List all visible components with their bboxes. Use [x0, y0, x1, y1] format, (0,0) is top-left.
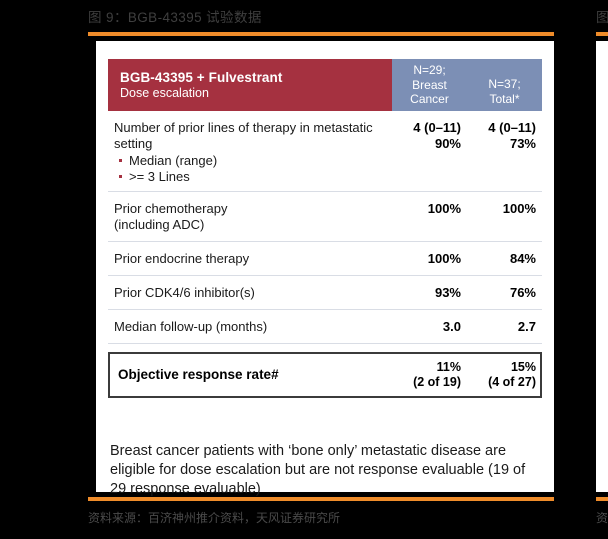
row-label-median-followup: Median follow-up (months) — [108, 310, 392, 343]
row-value-primary: 15% — [511, 360, 536, 374]
row-label-text: Prior chemotherapy — [114, 201, 384, 217]
row-label-prior-cdk46: Prior CDK4/6 inhibitor(s) — [108, 276, 392, 309]
col2-line2: Total* — [471, 92, 538, 107]
row-bullet-item: >= 3 Lines — [114, 169, 384, 185]
row-value-total: 76% — [467, 276, 542, 309]
adjacent-figure-sliver: 图 资 — [596, 0, 608, 539]
row-label-prior-endocrine: Prior endocrine therapy — [108, 242, 392, 275]
row-label-prior-chemotherapy: Prior chemotherapy (including ADC) — [108, 192, 392, 241]
row-value-primary: 4 (0–11) — [413, 120, 461, 135]
clinical-data-table: BGB-43395 + Fulvestrant Dose escalation … — [108, 59, 542, 398]
row-value-breast-cancer: 100% — [392, 192, 467, 225]
adjacent-figure-title: 图 — [596, 7, 608, 29]
col2-line1: N=37; — [471, 77, 538, 92]
figure-source: 资料来源：百济神州推介资料，天风证券研究所 — [88, 509, 340, 527]
figure-card: BGB-43395 + Fulvestrant Dose escalation … — [96, 41, 554, 492]
row-value-total: 4 (0–11) 73% — [467, 111, 542, 158]
row-value-secondary: 90% — [392, 136, 461, 152]
row-value-breast-cancer: 100% — [392, 242, 467, 275]
table-row: Prior chemotherapy (including ADC) 100% … — [108, 192, 542, 242]
col1-line2: Breast — [396, 78, 463, 93]
row-value-total: 84% — [467, 242, 542, 275]
adjacent-figure-bottom-rule — [596, 497, 608, 501]
adjacent-figure-card — [596, 41, 608, 492]
table-row: Number of prior lines of therapy in meta… — [108, 111, 542, 192]
table-header-col-total: N=37; Total* — [467, 59, 542, 111]
table-row: Prior CDK4/6 inhibitor(s) 93% 76% — [108, 276, 542, 310]
row-value-total: 100% — [467, 192, 542, 225]
adjacent-figure-source: 资 — [596, 509, 608, 527]
figure-bottom-rule — [88, 497, 554, 501]
row-value-primary: 11% — [437, 360, 461, 374]
table-row: Objective response rate# 11% (2 of 19) 1… — [110, 354, 540, 396]
table-header-title-line2: Dose escalation — [120, 86, 392, 101]
figure-block: 图 9：BGB-43395 试验数据 BGB-43395 + Fulvestra… — [88, 0, 554, 539]
table-footnote: Breast cancer patients with ‘bone only’ … — [110, 442, 542, 499]
table-header-title-line1: BGB-43395 + Fulvestrant — [120, 70, 392, 86]
row-value-breast-cancer: 11% (2 of 19) — [392, 360, 467, 390]
row-label-text: Number of prior lines of therapy in meta… — [114, 120, 384, 152]
col1-line3: Cancer — [396, 92, 463, 107]
adjacent-figure-top-rule — [596, 32, 608, 36]
table-row: Prior endocrine therapy 100% 84% — [108, 242, 542, 276]
row-label-subtext: (including ADC) — [114, 217, 384, 233]
row-label-prior-lines: Number of prior lines of therapy in meta… — [108, 111, 392, 191]
row-value-total: 15% (4 of 27) — [467, 360, 542, 390]
row-value-total: 2.7 — [467, 310, 542, 343]
row-value-secondary: (4 of 27) — [467, 375, 536, 390]
row-value-secondary: (2 of 19) — [392, 375, 461, 390]
row-value-primary: 4 (0–11) — [488, 120, 536, 135]
row-value-breast-cancer: 3.0 — [392, 310, 467, 343]
table-header-title: BGB-43395 + Fulvestrant Dose escalation — [108, 59, 392, 111]
row-value-secondary: 73% — [467, 136, 536, 152]
table-header-row: BGB-43395 + Fulvestrant Dose escalation … — [108, 59, 542, 111]
figure-top-rule — [88, 32, 554, 36]
row-bullet-item: Median (range) — [114, 153, 384, 169]
objective-response-rate-highlight-box: Objective response rate# 11% (2 of 19) 1… — [108, 352, 542, 398]
table-row: Median follow-up (months) 3.0 2.7 — [108, 310, 542, 344]
row-value-breast-cancer: 4 (0–11) 90% — [392, 111, 467, 158]
row-bullet-list: Median (range) >= 3 Lines — [114, 153, 384, 185]
figure-title: 图 9：BGB-43395 试验数据 — [88, 7, 262, 29]
page-root: 图 9：BGB-43395 试验数据 BGB-43395 + Fulvestra… — [0, 0, 608, 539]
row-value-breast-cancer: 93% — [392, 276, 467, 309]
row-label-objective-response-rate: Objective response rate# — [110, 367, 392, 383]
table-header-col-breast-cancer: N=29; Breast Cancer — [392, 59, 467, 111]
col1-line1: N=29; — [396, 63, 463, 78]
